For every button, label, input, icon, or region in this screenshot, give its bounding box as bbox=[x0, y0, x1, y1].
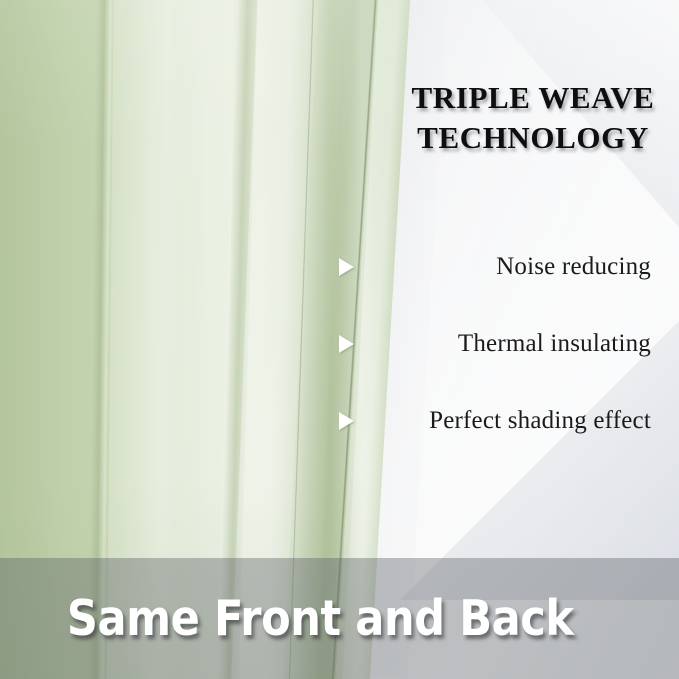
feature-label: Thermal insulating bbox=[330, 330, 660, 358]
triangle-right-icon bbox=[339, 258, 354, 276]
feature-label: Perfect shading effect bbox=[330, 407, 660, 435]
headline-line-1: TRIPLE WEAVE bbox=[392, 78, 674, 118]
product-feature-image: TRIPLE WEAVE TECHNOLOGY Noise reducing T… bbox=[0, 0, 679, 679]
banner-headline: Same Front and Back bbox=[0, 594, 574, 643]
page-title: TRIPLE WEAVE TECHNOLOGY bbox=[392, 78, 674, 158]
feature-item: Perfect shading effect bbox=[330, 382, 660, 459]
triangle-right-icon bbox=[339, 335, 354, 353]
feature-list: Noise reducing Thermal insulating Perfec… bbox=[330, 228, 660, 459]
triangle-right-icon bbox=[339, 412, 354, 430]
feature-label: Noise reducing bbox=[330, 253, 660, 281]
feature-item: Thermal insulating bbox=[330, 305, 660, 382]
feature-item: Noise reducing bbox=[330, 228, 660, 305]
bottom-banner: Same Front and Back bbox=[0, 558, 679, 679]
headline-line-2: TECHNOLOGY bbox=[392, 118, 674, 158]
